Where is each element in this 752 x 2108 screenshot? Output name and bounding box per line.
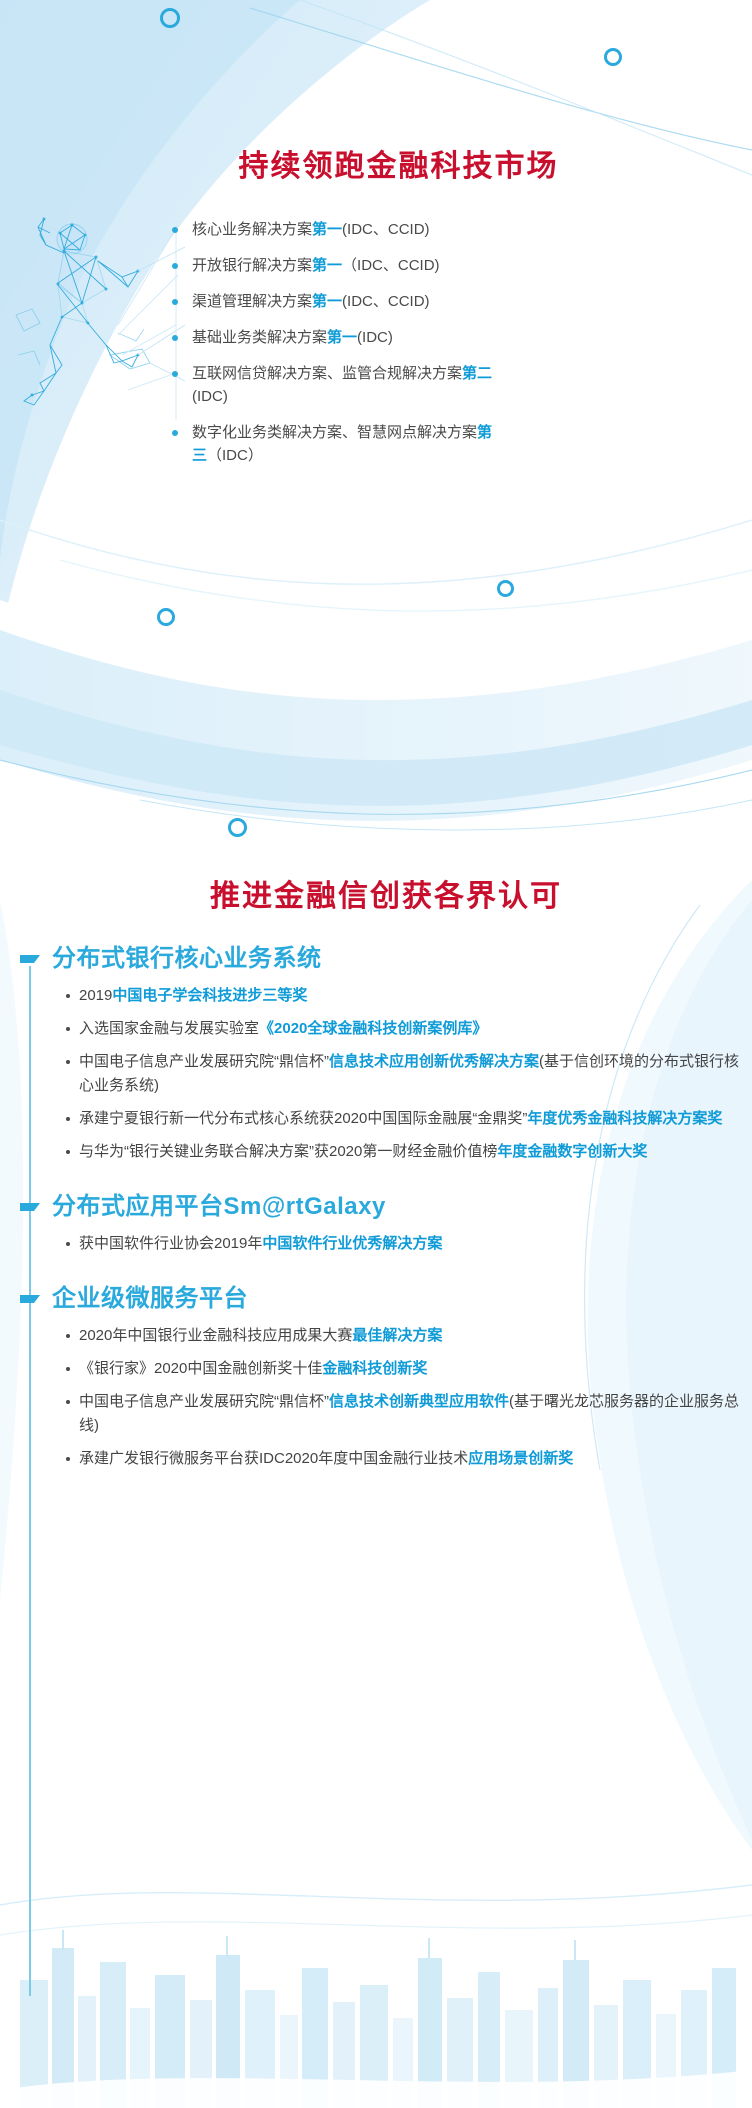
list-item-text: 《银行家》2020中国金融创新奖十佳金融科技创新奖 xyxy=(79,1357,427,1381)
bullet-dot-icon xyxy=(66,994,70,998)
list-item-text: 2019中国电子学会科技进步三等奖 xyxy=(79,984,307,1008)
poster-canvas: 持续领跑金融科技市场 xyxy=(0,0,752,2108)
arrow-marker-icon xyxy=(20,953,42,965)
arrow-marker-icon xyxy=(20,1293,42,1305)
section-fintech-innovation: 推进金融信创获各界认可 分布式银行核心业务系统 2019中国电子学会科技进步三等… xyxy=(0,880,752,1489)
group-title: 分布式银行核心业务系统 xyxy=(52,944,322,974)
list-item: 2020年中国银行业金融科技应用成果大赛最佳解决方案 xyxy=(52,1324,752,1348)
group-smart-galaxy: 分布式应用平台Sm@rtGalaxy 获中国软件行业协会2019年中国软件行业优… xyxy=(0,1192,752,1256)
group-bullet-list: 2020年中国银行业金融科技应用成果大赛最佳解决方案 《银行家》2020中国金融… xyxy=(52,1324,752,1471)
list-item: 互联网信贷解决方案、监管合规解决方案第二(IDC) xyxy=(172,362,502,408)
section1-title: 持续领跑金融科技市场 xyxy=(0,150,752,184)
list-item-text: 渠道管理解决方案第一(IDC、CCID) xyxy=(192,290,430,313)
list-item-text: 中国电子信息产业发展研究院“鼎信杯”信息技术应用创新优秀解决方案(基于信创环境的… xyxy=(79,1050,752,1098)
bullet-dot-icon xyxy=(66,1027,70,1031)
ring-circle-mid-left xyxy=(157,608,175,626)
ring-circle-top-left xyxy=(160,8,180,28)
list-item-text: 开放银行解决方案第一（IDC、CCID) xyxy=(192,254,440,277)
list-item-text: 中国电子信息产业发展研究院“鼎信杯”信息技术创新典型应用软件(基于曙光龙芯服务器… xyxy=(79,1390,752,1438)
list-item-text: 核心业务解决方案第一(IDC、CCID) xyxy=(192,218,430,241)
list-item: 2019中国电子学会科技进步三等奖 xyxy=(52,984,752,1008)
list-item-text: 承建宁夏银行新一代分布式核心系统获2020中国国际金融展“金鼎奖”年度优秀金融科… xyxy=(79,1107,722,1131)
arrow-marker-icon xyxy=(20,1201,42,1213)
list-item-text: 承建广发银行微服务平台获IDC2020年度中国金融行业技术应用场景创新奖 xyxy=(79,1447,573,1471)
list-item: 中国电子信息产业发展研究院“鼎信杯”信息技术创新典型应用软件(基于曙光龙芯服务器… xyxy=(52,1390,752,1438)
list-item: 渠道管理解决方案第一(IDC、CCID) xyxy=(172,290,502,313)
list-item-text: 2020年中国银行业金融科技应用成果大赛最佳解决方案 xyxy=(79,1324,442,1348)
list-item: 《银行家》2020中国金融创新奖十佳金融科技创新奖 xyxy=(52,1357,752,1381)
bullet-dot-icon xyxy=(66,1334,70,1338)
bullet-dot-icon xyxy=(66,1457,70,1461)
ring-circle-section2 xyxy=(228,818,247,837)
list-item: 基础业务类解决方案第一(IDC) xyxy=(172,326,502,349)
list-item-text: 数字化业务类解决方案、智慧网点解决方案第三（IDC） xyxy=(192,421,502,467)
list-item-text: 基础业务类解决方案第一(IDC) xyxy=(192,326,393,349)
bullet-dot-icon xyxy=(172,263,178,269)
bullet-dot-icon xyxy=(172,371,178,377)
list-item: 中国电子信息产业发展研究院“鼎信杯”信息技术应用创新优秀解决方案(基于信创环境的… xyxy=(52,1050,752,1098)
bullet-dot-icon xyxy=(66,1242,70,1246)
list-item: 承建广发银行微服务平台获IDC2020年度中国金融行业技术应用场景创新奖 xyxy=(52,1447,752,1471)
bullet-dot-icon xyxy=(66,1150,70,1154)
bullet-dot-icon xyxy=(66,1117,70,1121)
bullet-dot-icon xyxy=(66,1060,70,1064)
section-market-leadership: 持续领跑金融科技市场 xyxy=(0,150,752,210)
group-title: 分布式应用平台Sm@rtGalaxy xyxy=(52,1192,386,1222)
ring-circle-top-right xyxy=(604,48,622,66)
list-item: 开放银行解决方案第一（IDC、CCID) xyxy=(172,254,502,277)
group-bullet-list: 2019中国电子学会科技进步三等奖 入选国家金融与发展实验室《2020全球金融科… xyxy=(52,984,752,1164)
list-item: 获中国软件行业协会2019年中国软件行业优秀解决方案 xyxy=(52,1232,752,1256)
bullet-dot-icon xyxy=(172,227,178,233)
section1-bullet-list: 核心业务解决方案第一(IDC、CCID) 开放银行解决方案第一（IDC、CCID… xyxy=(172,218,502,480)
list-item: 入选国家金融与发展实验室《2020全球金融科技创新案例库》 xyxy=(52,1017,752,1041)
section2-title: 推进金融信创获各界认可 xyxy=(0,880,752,914)
list-item-text: 入选国家金融与发展实验室《2020全球金融科技创新案例库》 xyxy=(79,1017,487,1041)
bullet-dot-icon xyxy=(172,299,178,305)
ring-circle-mid-right xyxy=(497,580,514,597)
bullet-dot-icon xyxy=(66,1400,70,1404)
bullet-dot-icon xyxy=(172,335,178,341)
bullet-dot-icon xyxy=(66,1367,70,1371)
group-distributed-core: 分布式银行核心业务系统 2019中国电子学会科技进步三等奖 入选国家金融与发展实… xyxy=(0,944,752,1164)
list-item-text: 互联网信贷解决方案、监管合规解决方案第二(IDC) xyxy=(192,362,502,408)
group-microservice-platform: 企业级微服务平台 2020年中国银行业金融科技应用成果大赛最佳解决方案 《银行家… xyxy=(0,1284,752,1471)
bullet-dot-icon xyxy=(172,430,178,436)
list-item-text: 与华为“银行关键业务联合解决方案”获2020第一财经金融价值榜年度金融数字创新大… xyxy=(79,1140,647,1164)
list-item: 与华为“银行关键业务联合解决方案”获2020第一财经金融价值榜年度金融数字创新大… xyxy=(52,1140,752,1164)
list-item-text: 获中国软件行业协会2019年中国软件行业优秀解决方案 xyxy=(79,1232,442,1256)
group-title: 企业级微服务平台 xyxy=(52,1284,248,1314)
list-item: 核心业务解决方案第一(IDC、CCID) xyxy=(172,218,502,241)
list-item: 承建宁夏银行新一代分布式核心系统获2020中国国际金融展“金鼎奖”年度优秀金融科… xyxy=(52,1107,752,1131)
group-bullet-list: 获中国软件行业协会2019年中国软件行业优秀解决方案 xyxy=(52,1232,752,1256)
list-item: 数字化业务类解决方案、智慧网点解决方案第三（IDC） xyxy=(172,421,502,467)
